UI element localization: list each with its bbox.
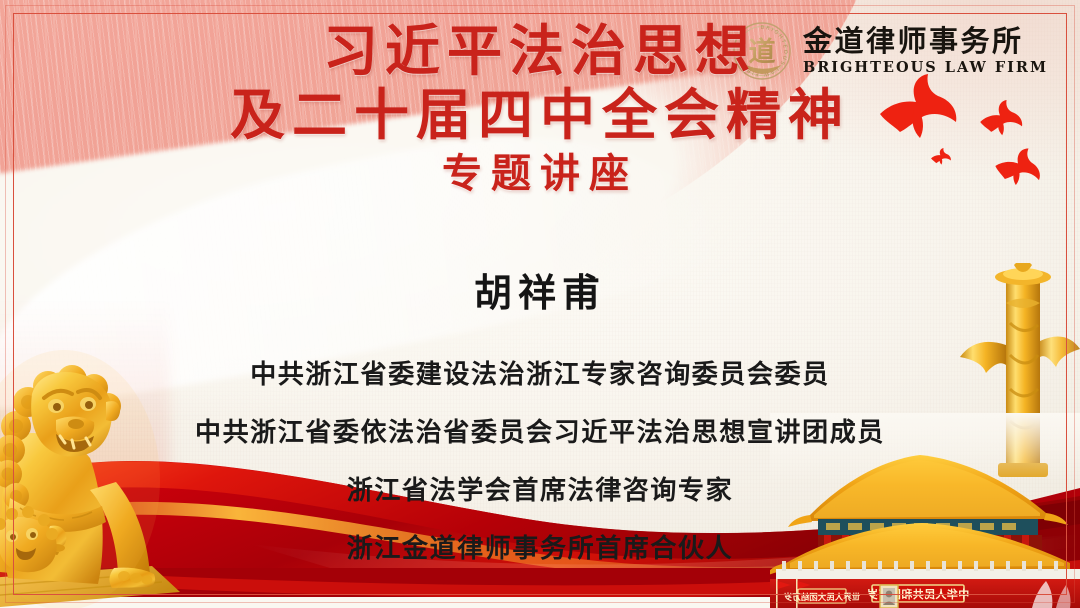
svg-text:世界人民大团结万岁: 世界人民大团结万岁 xyxy=(784,592,861,603)
speaker-credential-4: 浙江金道律师事务所首席合伙人 xyxy=(0,536,1080,562)
speaker-name: 胡祥甫 xyxy=(0,262,1080,317)
title-block: 习近平法治思想 及二十届四中全会精神 专题讲座 xyxy=(0,22,1080,195)
presentation-title-slide: 中华人民共和国万岁 世界人民大团结万岁 xyxy=(0,0,1080,608)
title-line-3: 专题讲座 xyxy=(0,153,1080,195)
title-line-2: 及二十届四中全会精神 xyxy=(0,86,1080,144)
speaker-credential-3: 浙江省法学会首席法律咨询专家 xyxy=(0,478,1080,504)
speaker-credential-2: 中共浙江省委依法治省委员会习近平法治思想宣讲团成员 xyxy=(0,420,1080,446)
speaker-block: 胡祥甫 中共浙江省委建设法治浙江专家咨询委员会委员 中共浙江省委依法治省委员会习… xyxy=(0,262,1080,562)
title-line-1: 习近平法治思想 xyxy=(0,22,1080,80)
speaker-credential-1: 中共浙江省委建设法治浙江专家咨询委员会委员 xyxy=(0,362,1080,388)
